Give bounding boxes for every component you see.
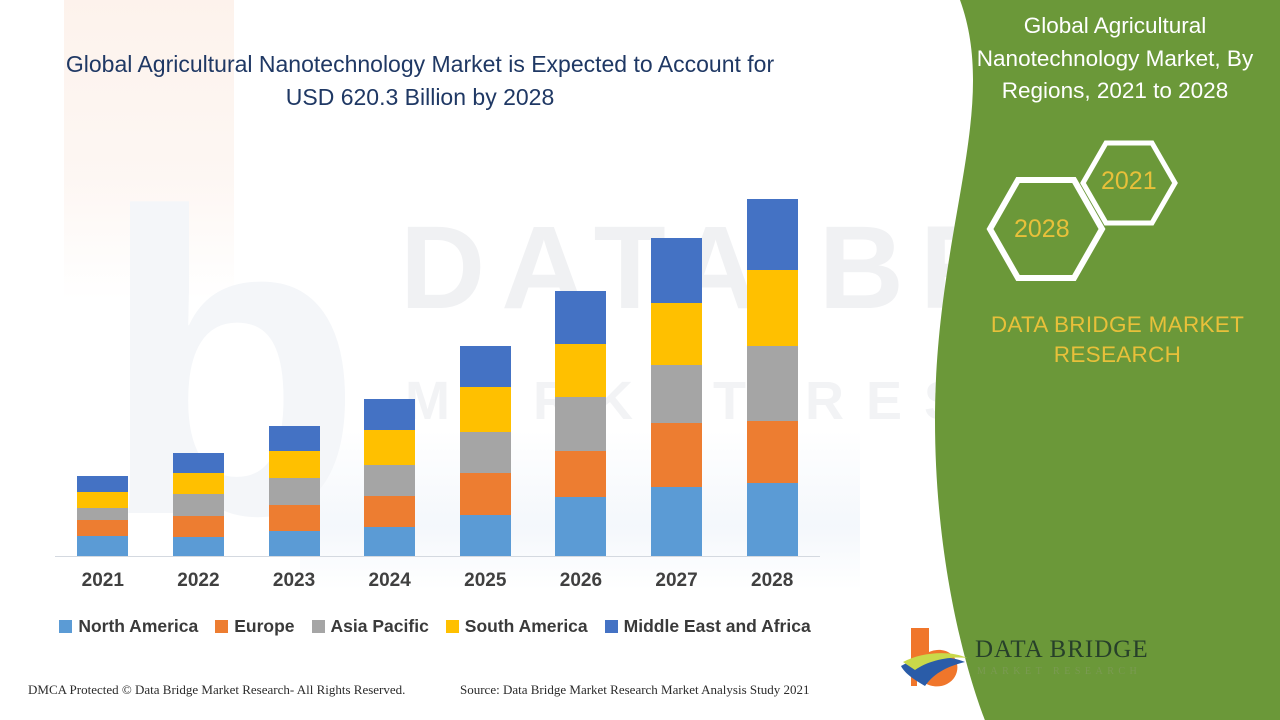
chart-legend: North AmericaEuropeAsia PacificSouth Ame… [40, 616, 830, 637]
bar-segment [747, 483, 798, 556]
bar-segment [173, 453, 224, 473]
bar-segment [460, 387, 511, 432]
x-axis-label-2027: 2027 [629, 570, 725, 592]
bar-segment [77, 492, 128, 508]
bar-segment [364, 465, 415, 496]
bar-group-2021 [55, 160, 151, 556]
stacked-bar-chart [55, 160, 820, 556]
logo-tagline: MARKET RESEARCH [977, 666, 1141, 677]
x-axis-labels: 20212022202320242025202620272028 [55, 570, 820, 602]
legend-label: Europe [234, 616, 294, 637]
bar-segment [651, 238, 702, 303]
bar-segment [269, 505, 320, 531]
bar-segment [651, 423, 702, 486]
stacked-bar[interactable] [364, 399, 415, 556]
bar-segment [269, 531, 320, 556]
stacked-bar[interactable] [269, 426, 320, 556]
bar-segment [747, 270, 798, 346]
legend-label: Asia Pacific [331, 616, 429, 637]
bar-segment [269, 426, 320, 451]
bar-segment [364, 496, 415, 527]
bar-segment [364, 430, 415, 465]
legend-swatch-icon [605, 620, 618, 633]
legend-swatch-icon [446, 620, 459, 633]
bar-group-2022 [150, 160, 246, 556]
hexagon-2021-label: 2021 [1101, 167, 1157, 196]
logo-mark-icon [895, 622, 975, 694]
bar-segment [747, 346, 798, 421]
bar-group-2024 [342, 160, 438, 556]
logo-wordmark: DATA BRIDGE [975, 636, 1149, 664]
data-bridge-logo: DATA BRIDGE MARKET RESEARCH [895, 622, 1125, 698]
legend-label: North America [78, 616, 198, 637]
stacked-bar[interactable] [460, 346, 511, 556]
bar-segment [77, 476, 128, 492]
legend-label: Middle East and Africa [624, 616, 811, 637]
bar-segment [173, 537, 224, 556]
bar-group-2026 [533, 160, 629, 556]
chart-panel: b DATA BRIDGE MARKET RESEARCH Global Agr… [0, 0, 860, 720]
bar-segment [747, 199, 798, 270]
x-axis-label-2028: 2028 [724, 570, 820, 592]
bar-segment [555, 497, 606, 556]
x-axis-line [55, 556, 820, 557]
legend-item[interactable]: Europe [215, 616, 294, 637]
legend-swatch-icon [312, 620, 325, 633]
bar-segment [77, 520, 128, 536]
bar-segment [269, 451, 320, 478]
bar-segment [364, 399, 415, 430]
bar-segment [651, 303, 702, 366]
bar-segment [269, 478, 320, 505]
stacked-bar[interactable] [173, 453, 224, 556]
legend-item[interactable]: South America [446, 616, 588, 637]
panel-title: Global Agricultural Nanotechnology Marke… [965, 10, 1265, 108]
page-title: Global Agricultural Nanotechnology Marke… [40, 48, 800, 113]
stacked-bar[interactable] [651, 238, 702, 556]
bar-segment [460, 515, 511, 556]
stacked-bar[interactable] [555, 291, 606, 556]
bar-segment [173, 473, 224, 494]
legend-item[interactable]: Middle East and Africa [605, 616, 811, 637]
bar-segment [77, 508, 128, 520]
bar-group-2025 [437, 160, 533, 556]
stacked-bar[interactable] [77, 476, 128, 556]
bar-segment [364, 527, 415, 556]
green-panel-shape [840, 0, 1280, 720]
legend-item[interactable]: Asia Pacific [312, 616, 429, 637]
infographic-canvas: b DATA BRIDGE MARKET RESEARCH Global Agr… [0, 0, 1280, 720]
bar-group-2028 [724, 160, 820, 556]
stacked-bar[interactable] [747, 199, 798, 556]
x-axis-label-2023: 2023 [246, 570, 342, 592]
x-axis-label-2025: 2025 [437, 570, 533, 592]
x-axis-label-2022: 2022 [150, 570, 246, 592]
bar-segment [555, 344, 606, 397]
bar-group-2023 [246, 160, 342, 556]
bar-segment [460, 473, 511, 515]
legend-item[interactable]: North America [59, 616, 198, 637]
bar-segment [173, 494, 224, 516]
bar-segment [651, 487, 702, 556]
bar-segment [555, 451, 606, 497]
source-note: Source: Data Bridge Market Research Mark… [460, 682, 809, 698]
dmca-notice: DMCA Protected © Data Bridge Market Rese… [28, 682, 405, 698]
bar-segment [555, 397, 606, 450]
bar-segment [460, 346, 511, 387]
bar-segment [460, 432, 511, 474]
legend-swatch-icon [215, 620, 228, 633]
legend-label: South America [465, 616, 588, 637]
bar-segment [555, 291, 606, 344]
bar-segment [173, 516, 224, 537]
bar-segment [77, 536, 128, 556]
x-axis-label-2024: 2024 [342, 570, 438, 592]
bar-group-2027 [629, 160, 725, 556]
footer: DMCA Protected © Data Bridge Market Rese… [0, 682, 860, 708]
bar-segment [747, 421, 798, 483]
brand-panel-content: Global Agricultural Nanotechnology Marke… [965, 0, 1280, 720]
x-axis-label-2021: 2021 [55, 570, 151, 592]
x-axis-label-2026: 2026 [533, 570, 629, 592]
legend-swatch-icon [59, 620, 72, 633]
bar-segment [651, 365, 702, 423]
